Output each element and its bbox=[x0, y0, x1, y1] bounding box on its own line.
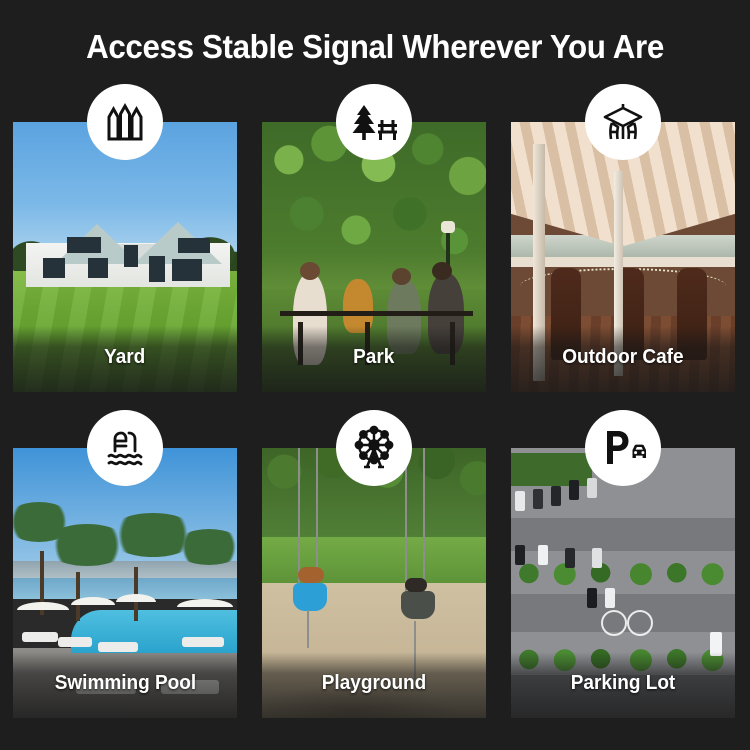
parking-car-icon bbox=[585, 410, 661, 486]
swimming-pool-photo: Swimming Pool bbox=[13, 448, 237, 718]
parking-lot-photo: Parking Lot bbox=[511, 448, 735, 718]
location-card-playground[interactable]: Playground bbox=[262, 448, 486, 718]
fence-icon bbox=[87, 84, 163, 160]
ferris-wheel-icon bbox=[336, 410, 412, 486]
infographic-root: Access Stable Signal Wherever You Are bbox=[0, 0, 750, 750]
swimming-pool-scene bbox=[13, 448, 237, 718]
location-card-parking-lot[interactable]: Parking Lot bbox=[511, 448, 735, 718]
yard-photo: Yard bbox=[13, 122, 237, 392]
location-card-outdoor-cafe[interactable]: Outdoor Cafe bbox=[511, 122, 735, 392]
outdoor-cafe-scene bbox=[511, 122, 735, 392]
location-card-park[interactable]: Park bbox=[262, 122, 486, 392]
tree-bench-icon bbox=[336, 84, 412, 160]
park-scene bbox=[262, 122, 486, 392]
location-card-grid: Yard bbox=[13, 122, 737, 722]
playground-photo: Playground bbox=[262, 448, 486, 718]
page-title: Access Stable Signal Wherever You Are bbox=[19, 28, 732, 66]
yard-scene bbox=[13, 122, 237, 392]
park-photo: Park bbox=[262, 122, 486, 392]
location-card-yard[interactable]: Yard bbox=[13, 122, 237, 392]
pool-ladder-waves-icon bbox=[87, 410, 163, 486]
outdoor-cafe-photo: Outdoor Cafe bbox=[511, 122, 735, 392]
parking-lot-scene bbox=[511, 448, 735, 718]
playground-scene bbox=[262, 448, 486, 718]
location-card-swimming-pool[interactable]: Swimming Pool bbox=[13, 448, 237, 718]
patio-umbrella-chairs-icon bbox=[585, 84, 661, 160]
